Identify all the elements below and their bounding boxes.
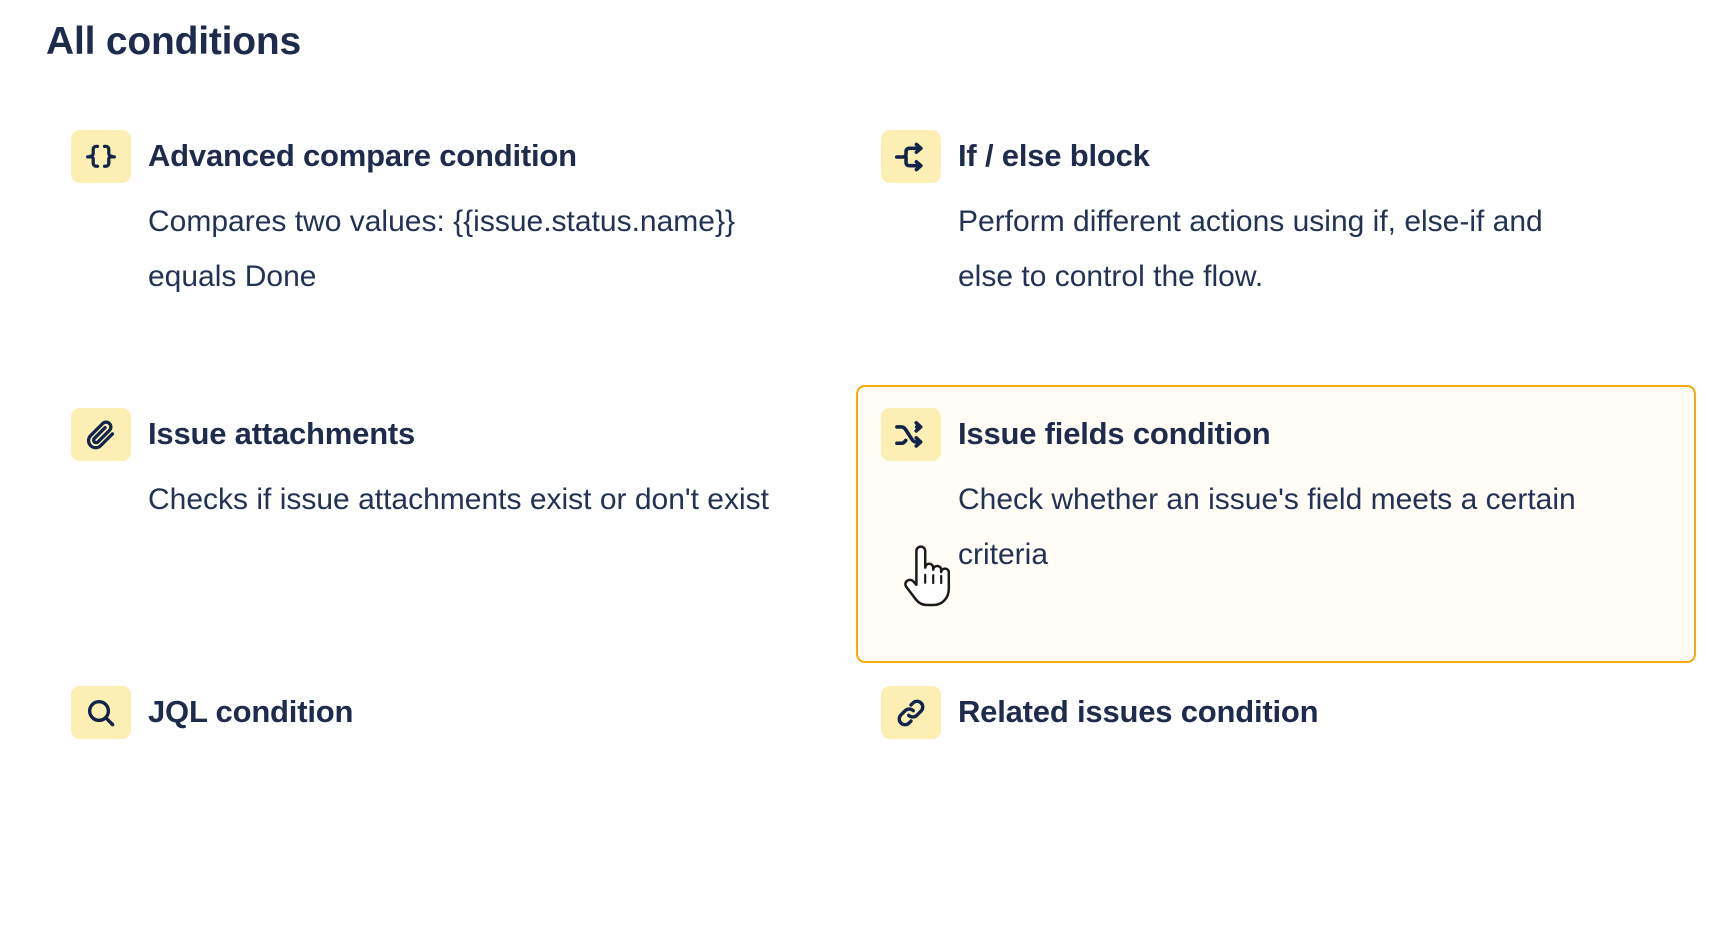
condition-description: Compares two values: {{issue.status.name… xyxy=(148,194,788,304)
linked-issues-icon xyxy=(881,686,941,739)
condition-title: Issue attachments xyxy=(148,408,415,460)
condition-title: JQL condition xyxy=(148,686,353,738)
page-title: All conditions xyxy=(46,19,301,66)
condition-description: Check whether an issue's field meets a c… xyxy=(958,472,1578,582)
condition-card-issue-fields-condition[interactable]: Issue fields condition Check whether an … xyxy=(856,385,1696,663)
condition-title: Issue fields condition xyxy=(958,408,1271,460)
all-conditions-panel: All conditions Advanced compare conditio… xyxy=(0,0,1710,714)
condition-card-advanced-compare-condition[interactable]: Advanced compare condition Compares two … xyxy=(46,107,856,385)
condition-description: Checks if issue attachments exist or don… xyxy=(148,472,788,527)
condition-title: If / else block xyxy=(958,130,1150,182)
condition-card-related-issues-condition[interactable]: Related issues condition xyxy=(856,663,1696,941)
card-header: JQL condition xyxy=(71,686,832,739)
card-header: If / else block xyxy=(881,130,1672,183)
card-header: Issue fields condition xyxy=(881,408,1672,461)
condition-card-jql-condition[interactable]: JQL condition xyxy=(46,663,856,941)
paperclip-icon xyxy=(71,408,131,461)
condition-card-issue-attachments[interactable]: Issue attachments Checks if issue attach… xyxy=(46,385,856,663)
card-header: Issue attachments xyxy=(71,408,832,461)
magnifier-icon xyxy=(71,686,131,739)
condition-description: Perform different actions using if, else… xyxy=(958,194,1598,304)
branch-arrows-icon xyxy=(881,130,941,183)
card-header: Advanced compare condition xyxy=(71,130,832,183)
condition-title: Advanced compare condition xyxy=(148,130,577,182)
curly-braces-icon xyxy=(71,130,131,183)
card-header: Related issues condition xyxy=(881,686,1672,739)
conditions-grid: Advanced compare condition Compares two … xyxy=(46,107,1696,941)
condition-title: Related issues condition xyxy=(958,686,1318,738)
shuffle-arrows-icon xyxy=(881,408,941,461)
condition-card-if-else-block[interactable]: If / else block Perform different action… xyxy=(856,107,1696,385)
